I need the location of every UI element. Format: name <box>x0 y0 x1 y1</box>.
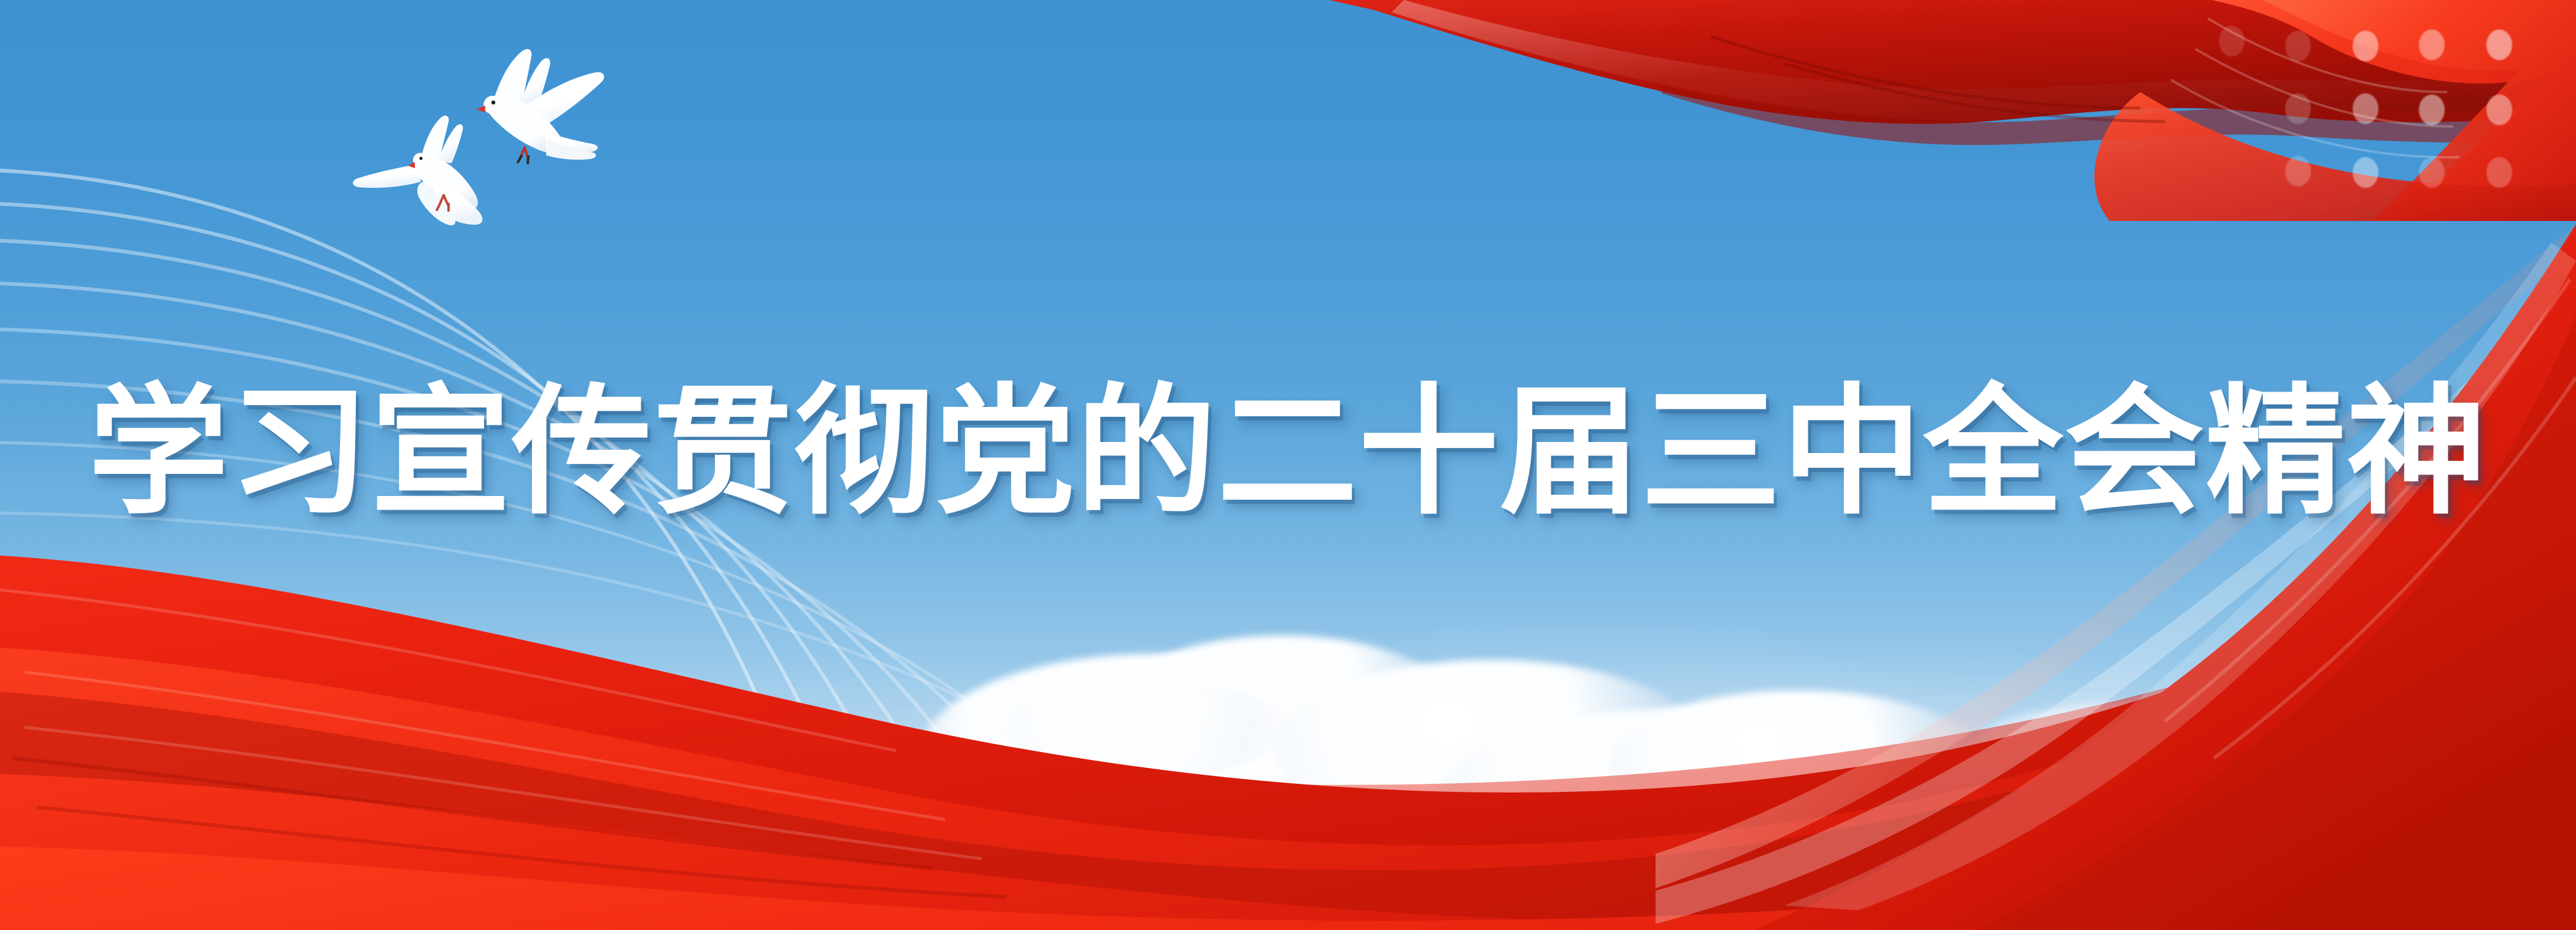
peace-dove-left <box>353 115 482 225</box>
banner-image: 学习宣传贯彻党的二十届三中全会精神 <box>0 0 2576 930</box>
peace-doves-icon <box>344 25 626 246</box>
peace-dove-right <box>476 49 604 163</box>
